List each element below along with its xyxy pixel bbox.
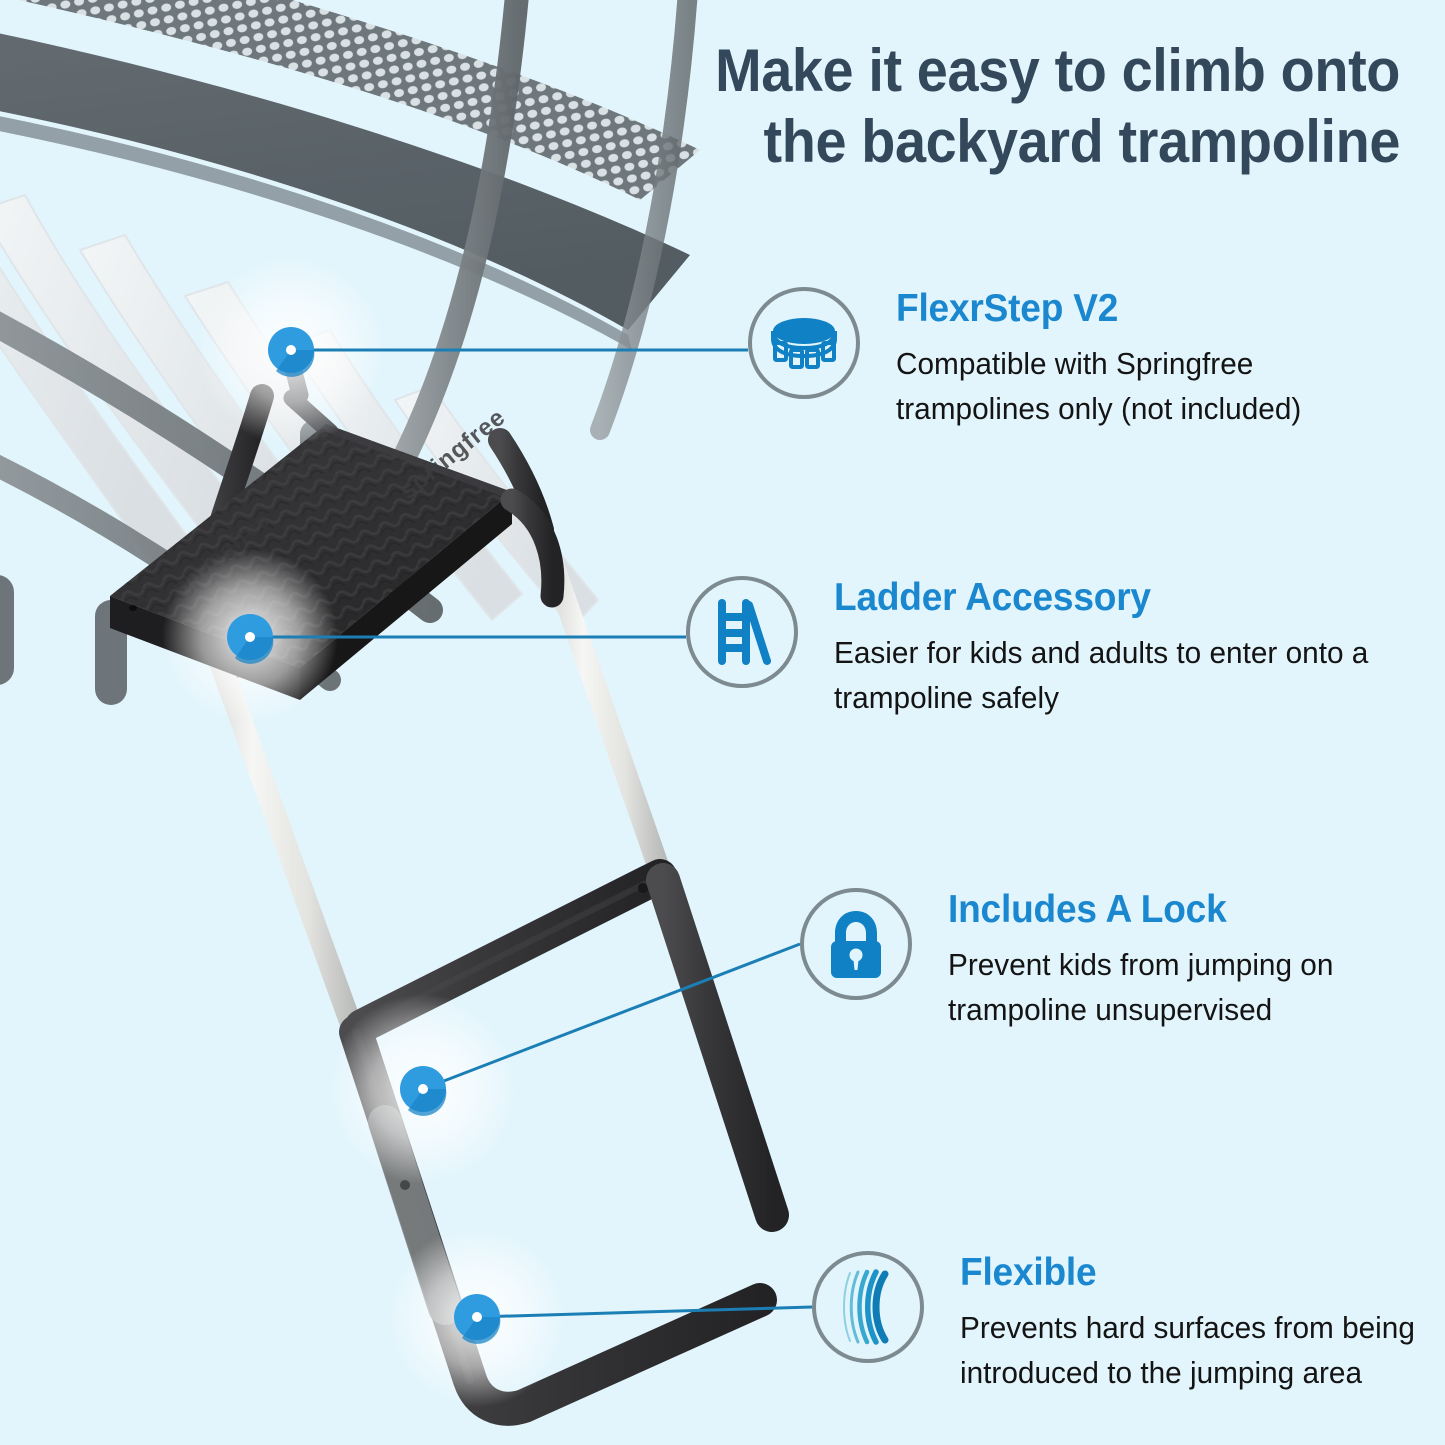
page-title: Make it easy to climb onto the backyard …: [693, 36, 1400, 178]
trampoline-icon-badge: [748, 287, 860, 399]
feature-ladder: Ladder Accessory Easier for kids and adu…: [686, 576, 1391, 720]
flexible-arcs-icon: [836, 1267, 900, 1347]
product-image: springfree springfree: [0, 0, 800, 1445]
feature-title: Flexible: [960, 1253, 1410, 1294]
feature-title: Ladder Accessory: [834, 578, 1363, 619]
feature-description: Compatible with Springfree trampolines o…: [896, 342, 1301, 431]
flexible-icon-badge: [812, 1251, 924, 1363]
ladder-icon-badge: [686, 576, 798, 688]
feature-desc-line-1: Easier for kids and adults to enter onto…: [834, 631, 1368, 676]
feature-desc-line-2: trampoline safely: [834, 676, 1368, 721]
headline-line-2: the backyard trampoline: [693, 107, 1400, 178]
feature-desc-line-1: Prevents hard surfaces from being: [960, 1306, 1415, 1351]
feature-desc-line-1: Compatible with Springfree: [896, 342, 1301, 387]
feature-lock: Includes A Lock Prevent kids from jumpin…: [800, 888, 1349, 1032]
feature-desc-line-2: introduced to the jumping area: [960, 1351, 1415, 1396]
feature-description: Easier for kids and adults to enter onto…: [834, 631, 1368, 720]
feature-flexrstep-text: FlexrStep V2 Compatible with Springfree …: [896, 287, 1318, 431]
infographic-canvas: springfree springfree: [0, 0, 1445, 1445]
feature-description: Prevent kids from jumping on trampoline …: [948, 943, 1333, 1032]
ladder-icon: [709, 597, 775, 667]
feature-lock-text: Includes A Lock Prevent kids from jumpin…: [948, 888, 1349, 1032]
feature-flexrstep: FlexrStep V2 Compatible with Springfree …: [748, 287, 1318, 431]
feature-desc-line-2: trampolines only (not included): [896, 387, 1301, 432]
feature-desc-line-2: trampoline unsupervised: [948, 988, 1333, 1033]
feature-description: Prevents hard surfaces from being introd…: [960, 1306, 1415, 1395]
feature-flexible-text: Flexible Prevents hard surfaces from bei…: [960, 1251, 1434, 1395]
feature-desc-line-1: Prevent kids from jumping on: [948, 943, 1333, 988]
feature-title: Includes A Lock: [948, 890, 1329, 931]
feature-ladder-text: Ladder Accessory Easier for kids and adu…: [834, 576, 1391, 720]
feature-title: FlexrStep V2: [896, 289, 1297, 330]
lock-icon: [825, 908, 887, 980]
feature-flexible: Flexible Prevents hard surfaces from bei…: [812, 1251, 1434, 1395]
headline-line-1: Make it easy to climb onto: [693, 36, 1400, 107]
trampoline-icon: [767, 313, 841, 373]
lock-icon-badge: [800, 888, 912, 1000]
